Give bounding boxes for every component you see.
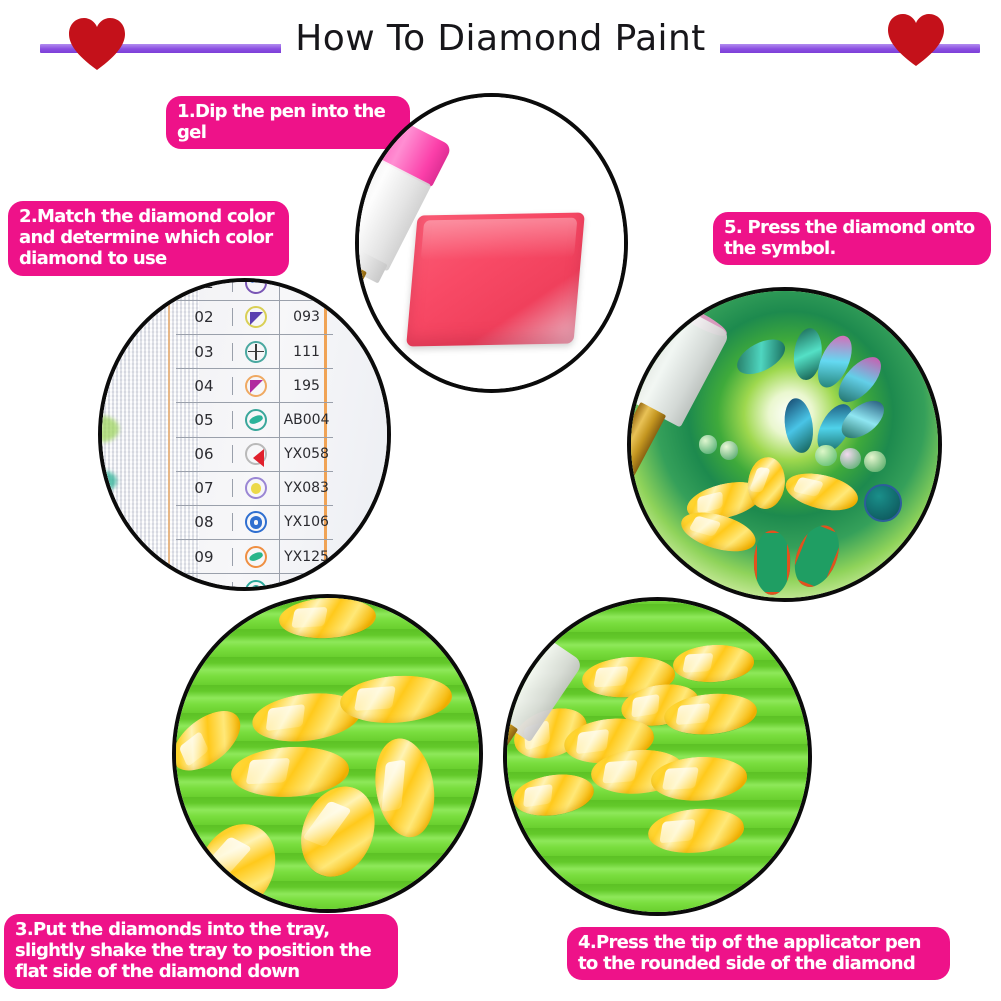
step-5-label: 5. Press the diamond onto the symbol. xyxy=(713,212,991,265)
chart-row-number: 05 xyxy=(176,411,233,429)
diamond-tray xyxy=(507,601,808,912)
chart-row-number: 06 xyxy=(176,445,233,463)
step-2-photo: 0102002093031110419505AB00406YX05807YX08… xyxy=(98,278,391,591)
chart-row-symbol-cell xyxy=(233,403,280,436)
chart-row-number: 01 xyxy=(176,278,233,292)
gem-yellow-marquise xyxy=(511,770,597,821)
gem-round xyxy=(815,445,836,466)
infographic-canvas: How To Diamond Paint 1.Dip the pen into … xyxy=(0,0,1001,1001)
step-3-label: 3.Put the diamonds into the tray, slight… xyxy=(4,914,398,989)
gem-yellow-marquise xyxy=(647,805,747,857)
chart-row-number: 02 xyxy=(176,308,233,326)
double-dot-circle-symbol xyxy=(245,278,267,294)
magenta-triangle-symbol xyxy=(245,375,267,397)
chart-row-code: AB004 xyxy=(280,412,333,428)
printed-petal xyxy=(786,519,847,594)
color-chart-row: 06YX058 xyxy=(176,438,333,472)
gel-pad xyxy=(406,212,585,346)
purple-triangle-symbol xyxy=(245,306,267,328)
gem-round xyxy=(720,441,738,459)
chart-margin-line-left xyxy=(168,282,170,587)
chart-row-symbol-cell xyxy=(233,301,280,334)
chart-row-number: 09 xyxy=(176,548,233,566)
step-4-label: 4.Press the tip of the applicator pen to… xyxy=(567,927,950,980)
gem-round xyxy=(864,484,902,522)
step-2-label: 2.Match the diamond color and determine … xyxy=(8,201,289,276)
chart-row-symbol-cell xyxy=(233,369,280,402)
chart-row-number: 08 xyxy=(176,513,233,531)
color-chart-row: 04195 xyxy=(176,369,333,403)
yellow-dot-symbol xyxy=(245,477,267,499)
gem-yellow-marquise xyxy=(782,467,861,516)
gem-yellow-marquise xyxy=(369,734,441,841)
color-chart-row: 02093 xyxy=(176,301,333,335)
chart-row-number: 04 xyxy=(176,377,233,395)
applicator-pen xyxy=(627,303,731,501)
gem-round xyxy=(699,435,717,453)
chart-row-symbol-cell xyxy=(233,278,280,300)
step-4-photo xyxy=(503,597,812,916)
color-chart-sheet: 0102002093031110419505AB00406YX05807YX08… xyxy=(102,282,387,587)
chart-row-symbol-cell xyxy=(233,506,280,539)
step-3-photo xyxy=(172,594,483,913)
diamond-tray xyxy=(176,598,479,909)
chart-row-number: 07 xyxy=(176,479,233,497)
gem-yellow-marquise xyxy=(183,810,291,913)
plus-cross-symbol xyxy=(245,341,267,363)
teal-leaf-symbol xyxy=(245,409,267,431)
mandala-canvas xyxy=(631,291,938,598)
color-chart-row: 07YX083 xyxy=(176,472,333,506)
chart-row-code: 020 xyxy=(280,278,333,291)
gem-round xyxy=(840,448,861,469)
color-chart-table: 0102002093031110419505AB00406YX05807YX08… xyxy=(176,278,333,591)
chart-row-code: YX106 xyxy=(280,514,333,530)
color-chart-row: 10 xyxy=(176,574,333,591)
pen-tip xyxy=(627,402,667,490)
chart-row-code: YX083 xyxy=(280,480,333,496)
chart-row-code: 093 xyxy=(280,309,333,325)
green-leaf-symbol xyxy=(245,546,267,568)
gem-round xyxy=(864,451,885,472)
chart-row-symbol-cell xyxy=(233,574,280,591)
chart-row-code: YX125 xyxy=(280,549,333,565)
chart-row-code: 195 xyxy=(280,378,333,394)
color-chart-row: 09YX125 xyxy=(176,540,333,574)
page-title: How To Diamond Paint xyxy=(0,18,1001,59)
chart-row-symbol-cell xyxy=(233,335,280,368)
printed-petal xyxy=(754,530,791,594)
chart-row-symbol-cell xyxy=(233,540,280,573)
gem-yellow-marquise xyxy=(672,642,755,684)
color-chart-row: 08YX106 xyxy=(176,506,333,540)
chart-row-number: 03 xyxy=(176,343,233,361)
blue-ring-symbol xyxy=(245,511,267,533)
gem-teal xyxy=(732,333,791,382)
gem-yellow-marquise xyxy=(278,595,377,640)
chart-row-code: 111 xyxy=(280,344,333,360)
teal-circle-symbol xyxy=(245,580,267,591)
page-title-text: How To Diamond Paint xyxy=(281,18,719,59)
color-chart-row: 01020 xyxy=(176,278,333,301)
chart-row-number: 10 xyxy=(176,582,233,591)
red-arrow-symbol xyxy=(245,443,267,465)
color-chart-row: 05AB004 xyxy=(176,403,333,437)
chart-row-code: YX058 xyxy=(280,446,333,462)
step-5-photo xyxy=(627,287,942,602)
step-1-photo xyxy=(355,93,628,393)
chart-row-symbol-cell xyxy=(233,438,280,471)
chart-row-symbol-cell xyxy=(233,472,280,505)
gem-teal xyxy=(781,397,816,456)
color-chart-row: 03111 xyxy=(176,335,333,369)
